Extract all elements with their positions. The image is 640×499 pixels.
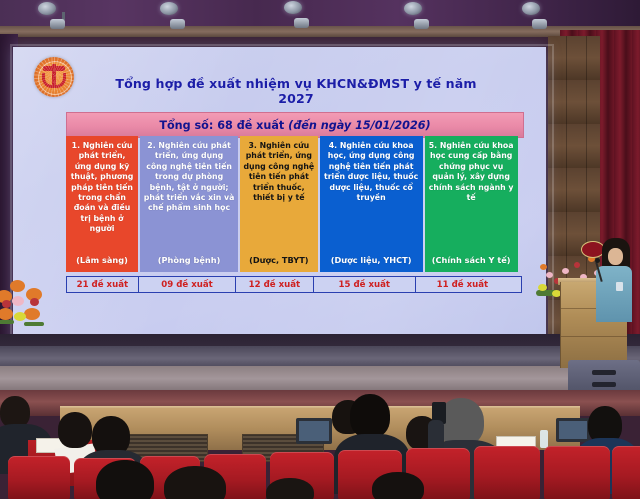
task-group-tag: (Dược liệu, YHCT): [320, 255, 423, 265]
audience-head-foreground: [164, 466, 226, 499]
theater-seat: [544, 446, 610, 499]
microphone-icon: [595, 258, 600, 263]
task-group-column-4: 4. Nghiên cứu khoa học, ứng dụng công ng…: [320, 136, 423, 272]
count-cell-4: 15 đề xuất: [314, 277, 417, 292]
audience-head-foreground: [266, 478, 314, 499]
stage-light-icon: [160, 2, 178, 15]
speaker-grille: [592, 370, 616, 375]
theater-seat: [474, 446, 540, 499]
task-group-tag: (Dược, TBYT): [240, 255, 318, 265]
stage-light-icon: [294, 18, 309, 28]
count-label: 12 đề xuất: [249, 280, 301, 290]
total-prefix: Tổng số: 68 đề xuất: [159, 119, 288, 132]
slide-title: Tổng hợp đề xuất nhiệm vụ KHCN&ĐMST y tế…: [96, 76, 496, 106]
ministry-of-health-emblem-icon: [34, 57, 74, 97]
count-label: 09 đề xuất: [161, 280, 213, 290]
stage-light-icon: [284, 1, 302, 14]
stage-light-icon: [170, 19, 185, 29]
stage-light-icon: [404, 2, 422, 15]
task-group-column-3: 3. Nghiên cứu phát triển, ứng dụng công …: [240, 136, 318, 272]
flower-arrangement-left: [0, 250, 80, 360]
stage-light-icon: [50, 19, 65, 29]
conference-hall-photo: Tổng hợp đề xuất nhiệm vụ KHCN&ĐMST y tế…: [0, 0, 640, 499]
task-group-columns: 1. Nghiên cứu phát triển, ứng dụng kỹ th…: [66, 136, 522, 272]
stage-light-icon: [522, 2, 540, 15]
audience-head-foreground: [96, 460, 154, 499]
flower: [10, 280, 25, 292]
flower: [14, 312, 26, 321]
laptop-screen: [559, 421, 587, 439]
flower: [2, 300, 11, 308]
speaker-grille: [592, 382, 616, 387]
task-group-description: 3. Nghiên cứu phát triển, ứng dụng công …: [243, 141, 315, 203]
task-group-tag: (Chính sách Y tế): [425, 255, 518, 265]
audience-head: [350, 394, 390, 438]
podium-seam: [561, 336, 627, 337]
speaker-badge: [616, 282, 623, 291]
task-group-description: 1. Nghiên cứu phát triển, ứng dụng kỹ th…: [69, 141, 135, 235]
flower: [12, 296, 24, 306]
total-date-note: (đến ngày 15/01/2026): [288, 119, 431, 132]
stage-light-icon: [38, 2, 56, 15]
task-group-column-2: 2. Nghiên cứu phát triển, ứng dụng công …: [140, 136, 238, 272]
speaker-face: [608, 248, 623, 265]
task-group-description: 4. Nghiên cứu khoa học, ứng dụng công ng…: [323, 141, 420, 203]
task-group-description: 5. Nghiên cứu khoa học cung cấp bằng chứ…: [428, 141, 515, 203]
count-label: 11 đề xuất: [437, 280, 489, 290]
count-label: 21 đề xuất: [77, 280, 129, 290]
stage-light-icon: [414, 19, 429, 29]
task-group-tag: (Phòng bệnh): [140, 255, 238, 265]
task-group-column-5: 5. Nghiên cứu khoa học cung cấp bằng chứ…: [425, 136, 518, 272]
count-cell-2: 09 đề xuất: [139, 277, 237, 292]
audience-area: [0, 394, 640, 499]
water-bottle: [540, 430, 548, 448]
total-summary-band: Tổng số: 68 đề xuất (đến ngày 15/01/2026…: [66, 112, 524, 138]
count-label: 15 đề xuất: [339, 280, 391, 290]
foliage: [0, 320, 14, 324]
theater-seat: [8, 456, 70, 499]
proposal-count-row: 21 đề xuất 09 đề xuất 12 đề xuất 15 đề x…: [66, 276, 522, 293]
flower: [574, 262, 580, 268]
flower: [30, 298, 39, 306]
flower: [562, 268, 569, 274]
laptop-screen: [299, 421, 329, 441]
foliage: [24, 322, 44, 326]
flower: [0, 308, 13, 320]
total-summary-text: Tổng số: 68 đề xuất (đến ngày 15/01/2026…: [159, 119, 430, 132]
emblem-ring-ticks: [34, 57, 74, 97]
task-group-description: 2. Nghiên cứu phát triển, ứng dụng công …: [143, 141, 235, 214]
flower: [546, 272, 553, 278]
flower: [538, 284, 547, 291]
audience-head: [58, 412, 92, 448]
stage-light-icon: [532, 19, 547, 29]
audience-head-foreground: [372, 472, 424, 499]
count-cell-5: 11 đề xuất: [416, 277, 509, 292]
flower: [540, 264, 547, 270]
count-cell-3: 12 đề xuất: [236, 277, 313, 292]
flower: [24, 308, 40, 320]
theater-seat: [612, 446, 640, 499]
speaker-torso: [596, 266, 632, 322]
